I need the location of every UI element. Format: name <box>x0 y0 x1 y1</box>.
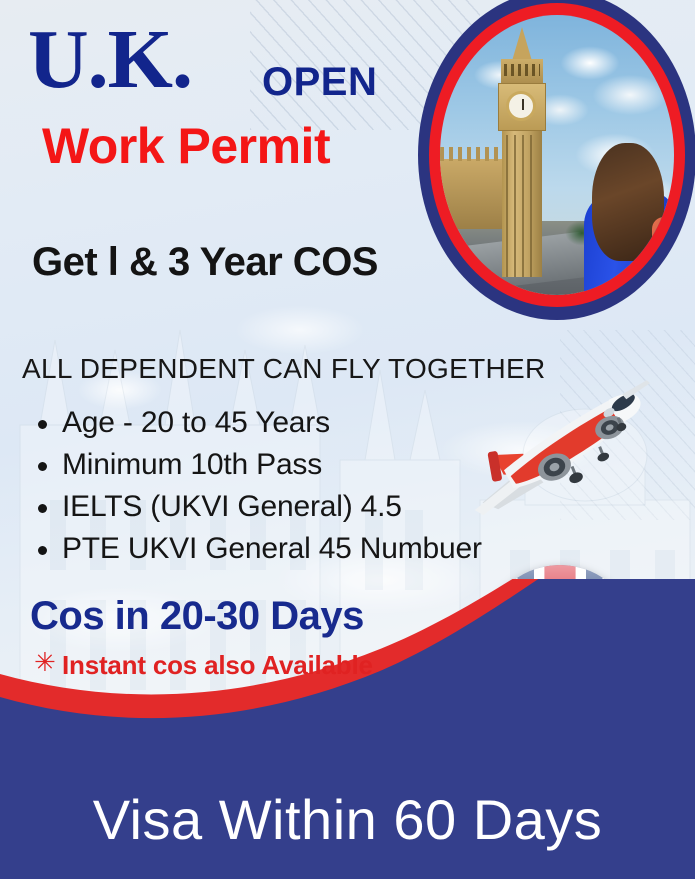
processing-instant-note: Instant cos also Available <box>62 652 373 678</box>
woman-figure <box>570 145 674 295</box>
headline-open: OPEN <box>262 62 377 102</box>
headline-work-permit: Work Permit <box>42 121 330 171</box>
big-ben-photo <box>440 15 674 295</box>
list-item: PTE UKVI General 45 Numbuer <box>62 528 482 570</box>
union-jack-flag <box>482 565 638 721</box>
subhead-dependents: ALL DEPENDENT CAN FLY TOGETHER <box>22 355 546 383</box>
list-item: IELTS (UKVI General) 4.5 <box>62 486 482 528</box>
subhead-cos-years: Get l & 3 Year COS <box>32 242 378 282</box>
poster: U.K. OPEN Work Permit Get l & 3 Year COS… <box>0 0 695 879</box>
list-item: Age - 20 to 45 Years <box>62 402 482 444</box>
list-item: Minimum 10th Pass <box>62 444 482 486</box>
big-ben-photo-frame <box>418 0 695 330</box>
processing-cos-days: Cos in 20-30 Days <box>30 596 364 636</box>
banner-visa-promise: Visa Within 60 Days <box>0 792 695 848</box>
union-jack-svg <box>482 565 638 721</box>
headline-country: U.K. <box>28 18 192 102</box>
requirements-list: Age - 20 to 45 Years Minimum 10th Pass I… <box>30 402 482 570</box>
asterisk-icon: ✳ <box>34 650 56 676</box>
big-ben-tower <box>494 27 550 277</box>
